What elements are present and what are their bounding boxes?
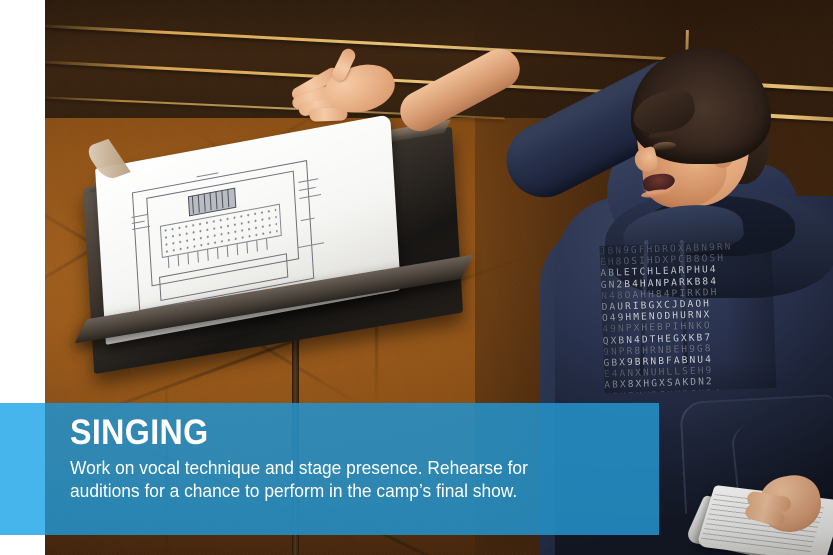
hoodie-letter-grid-print: JBN9GFHDROXABN9RN EH8OSIHDXPCB8OSH ABLET… bbox=[599, 240, 776, 394]
activity-description: Work on vocal technique and stage presen… bbox=[70, 456, 640, 502]
activity-title: SINGING bbox=[70, 412, 594, 453]
singer-head bbox=[631, 48, 771, 216]
activity-card: JBN9GFHDROXABN9RN EH8OSIHDXPCB8OSH ABLET… bbox=[0, 0, 833, 555]
caption-text-block: SINGING Work on vocal technique and stag… bbox=[70, 412, 640, 502]
accent-strip bbox=[0, 403, 45, 535]
description-line: Work on vocal technique and stage presen… bbox=[70, 456, 606, 479]
print-shading bbox=[599, 240, 776, 394]
description-line: auditions for a chance to perform in the… bbox=[70, 479, 606, 502]
lower-hand bbox=[745, 470, 833, 550]
